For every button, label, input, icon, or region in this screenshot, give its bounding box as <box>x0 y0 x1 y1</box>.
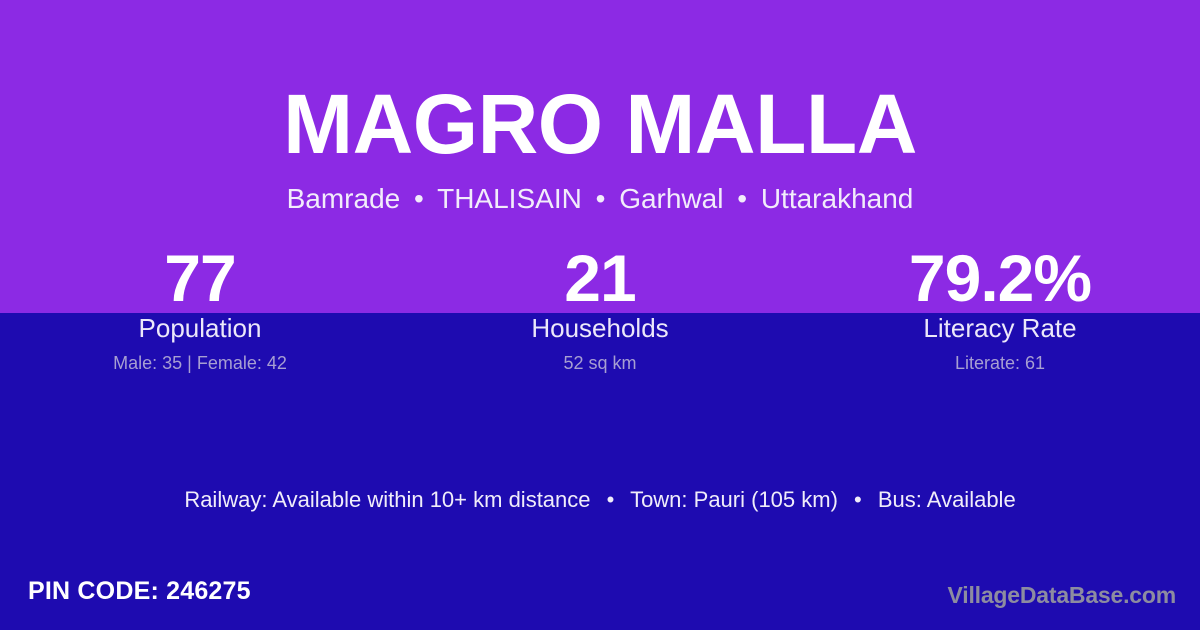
infrastructure-railway: Railway: Available within 10+ km distanc… <box>184 487 590 512</box>
stat-population-sub: Male: 35 | Female: 42 <box>0 352 400 374</box>
pin-code: PIN CODE: 246275 <box>28 576 251 606</box>
breadcrumb-state: Uttarakhand <box>761 183 914 214</box>
stat-households-sub: 52 sq km <box>400 352 800 374</box>
stat-households: 21 Households 52 sq km <box>400 246 800 374</box>
breadcrumb-separator: • <box>731 183 753 214</box>
infrastructure-separator: • <box>597 487 625 512</box>
breadcrumb-village: Bamrade <box>287 183 401 214</box>
stat-literacy-label: Literacy Rate <box>800 313 1200 343</box>
breadcrumb-separator: • <box>590 183 612 214</box>
infrastructure-separator: • <box>844 487 872 512</box>
stat-population-value: 77 <box>0 246 400 312</box>
page-title: MAGRO MALLA <box>0 82 1200 166</box>
location-breadcrumb: Bamrade • THALISAIN • Garhwal • Uttarakh… <box>0 184 1200 215</box>
breadcrumb-block: THALISAIN <box>437 183 582 214</box>
site-brand: VillageDataBase.com <box>948 581 1176 609</box>
stat-households-label: Households <box>400 313 800 343</box>
village-info-card: MAGRO MALLA Bamrade • THALISAIN • Garhwa… <box>0 0 1200 630</box>
stats-row: 77 Population Male: 35 | Female: 42 21 H… <box>0 246 1200 374</box>
infrastructure-line: Railway: Available within 10+ km distanc… <box>0 486 1200 514</box>
infrastructure-bus: Bus: Available <box>878 487 1016 512</box>
stat-literacy: 79.2% Literacy Rate Literate: 61 <box>800 246 1200 374</box>
stat-population: 77 Population Male: 35 | Female: 42 <box>0 246 400 374</box>
stat-literacy-value: 79.2% <box>800 246 1200 312</box>
stat-households-value: 21 <box>400 246 800 312</box>
infrastructure-town: Town: Pauri (105 km) <box>630 487 838 512</box>
stat-population-label: Population <box>0 313 400 343</box>
breadcrumb-district: Garhwal <box>619 183 723 214</box>
breadcrumb-separator: • <box>408 183 430 214</box>
stat-literacy-sub: Literate: 61 <box>800 352 1200 374</box>
